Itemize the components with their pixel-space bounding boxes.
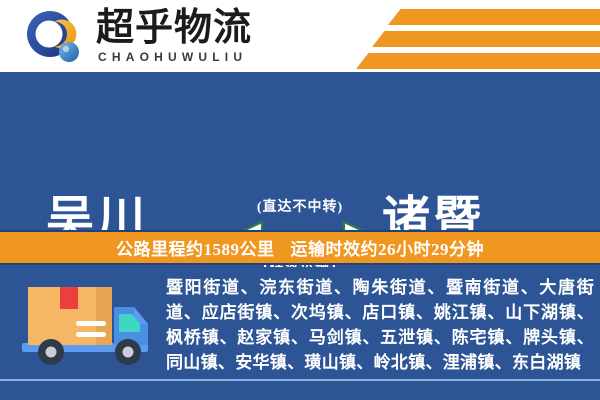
distance-text: 公路里程约1589公里 bbox=[116, 235, 275, 260]
delivery-truck-icon bbox=[18, 281, 160, 373]
duration-text: 运输时效约26小时29分钟 bbox=[291, 235, 485, 260]
bottom-divider bbox=[0, 379, 600, 381]
header-stripe-3 bbox=[356, 53, 600, 69]
logistics-route-banner: 超乎物流 CHAOHUWULIU 吴川 (直达不中转) 【往返运输】 诸暨 公路… bbox=[0, 0, 600, 400]
header-stripe-2 bbox=[372, 31, 600, 47]
header-stripe-1 bbox=[388, 9, 600, 25]
route-info-bar: 公路里程约1589公里 运输时效约26小时29分钟 bbox=[0, 230, 600, 265]
brand-name-cn: 超乎物流 bbox=[96, 8, 252, 48]
coverage-area-list: 暨阳街道、浣东街道、陶朱街道、暨南街道、大唐街道、应店街镇、次坞镇、店口镇、姚江… bbox=[166, 275, 594, 375]
circle-q-logo-icon bbox=[24, 9, 84, 65]
brand-header: 超乎物流 CHAOHUWULIU bbox=[0, 0, 600, 72]
brand-name-en: CHAOHUWULIU bbox=[98, 50, 247, 64]
route-section: 吴川 (直达不中转) 【往返运输】 诸暨 bbox=[0, 72, 600, 228]
